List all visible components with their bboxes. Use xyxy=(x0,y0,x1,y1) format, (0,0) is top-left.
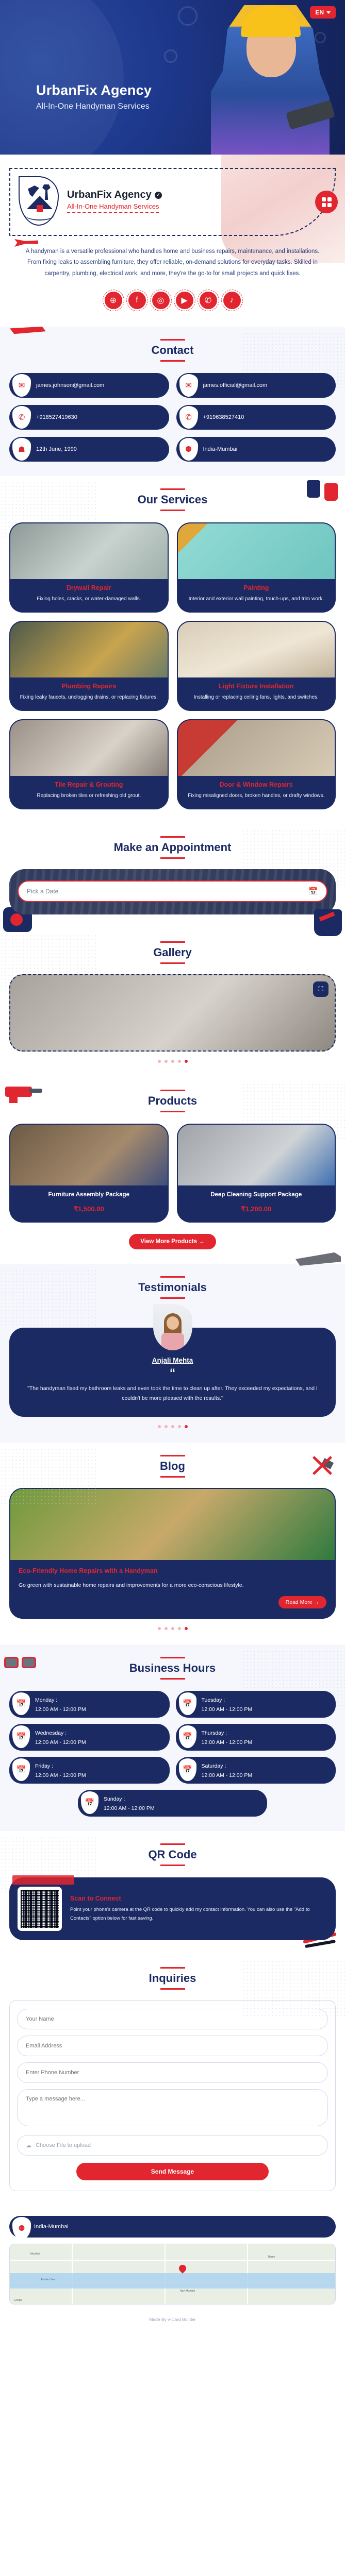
gallery-image[interactable]: ⛶ xyxy=(9,974,336,1052)
message-textarea[interactable] xyxy=(17,2089,328,2126)
location-pin-icon: ⚉ xyxy=(179,438,198,461)
tiktok-icon[interactable]: ♪ xyxy=(223,292,241,309)
title-bar-top xyxy=(160,1090,185,1091)
product-title: Deep Cleaning Support Package xyxy=(182,1191,331,1199)
hours-time: 12:00 AM - 12:00 PM xyxy=(202,1772,253,1778)
service-title: Tile Repair & Grouting xyxy=(15,781,162,788)
hammer-icon xyxy=(28,185,39,197)
date-picker-input[interactable]: Pick a Date 📅 xyxy=(18,880,327,902)
product-card[interactable]: Deep Cleaning Support Package ₹1,200.00 xyxy=(177,1124,336,1223)
hours-time: 12:00 AM - 12:00 PM xyxy=(202,1739,253,1745)
hours-day: Saturday : xyxy=(202,1763,226,1769)
qr-code-image[interactable] xyxy=(18,1887,62,1931)
brand-card: UrbanFix Agency ✓ All-In-One Handyman Se… xyxy=(9,168,336,236)
qr-description: Point your phone's camera at the QR code… xyxy=(70,1906,327,1922)
brand-section: UrbanFix Agency ✓ All-In-One Handyman Se… xyxy=(0,155,345,327)
blog-pager xyxy=(9,1627,336,1630)
gallery-pager xyxy=(9,1060,336,1063)
service-title: Plumbing Repairs xyxy=(15,683,162,690)
service-image xyxy=(10,523,168,579)
pager-dot[interactable] xyxy=(178,1425,181,1428)
about-text-wrap: A handyman is a versatile professional w… xyxy=(9,236,336,281)
page-title-gallery: Gallery xyxy=(9,946,336,959)
pager-dot[interactable] xyxy=(178,1627,181,1630)
social-links: ⊕ f ◎ ▶ ✆ ♪ xyxy=(9,281,336,323)
hours-row-monday: 📅 Monday : 12:00 AM - 12:00 PM xyxy=(9,1691,170,1718)
service-desc: Fixing holes, cracks, or water-damaged w… xyxy=(15,595,162,603)
services-grid: Drywall Repair Fixing holes, cracks, or … xyxy=(9,522,336,809)
product-title: Furniture Assembly Package xyxy=(14,1191,163,1199)
appointment-title-block: Make an Appointment xyxy=(9,836,336,859)
website-glyph: ⊕ xyxy=(110,295,117,306)
qr-code-fab-button[interactable] xyxy=(315,191,338,213)
inquiry-form: ☁ Choose File to upload Send Message xyxy=(9,2000,336,2191)
file-upload-label: Choose File to upload xyxy=(36,2142,91,2148)
page-title-services: Our Services xyxy=(9,493,336,506)
calendar-clock-icon: 📅 xyxy=(12,1725,30,1748)
page-title-appointment: Make an Appointment xyxy=(9,841,336,854)
qr-section: QR Code Scan to Connect Point your phone… xyxy=(0,1831,345,1955)
map-label: Navi Mumbai xyxy=(180,2290,195,2293)
date-placeholder: Pick a Date xyxy=(27,888,58,895)
service-desc: Replacing broken tiles or refreshing old… xyxy=(15,792,162,800)
service-desc: Fixing misaligned doors, broken handles,… xyxy=(183,792,330,800)
file-upload-row[interactable]: ☁ Choose File to upload xyxy=(17,2135,328,2156)
avatar xyxy=(153,1304,192,1350)
service-title: Door & Window Repairs xyxy=(183,781,330,788)
map-section: ⚉ India-Mumbai Mumbai Navi Mumbai Thane … xyxy=(0,2206,345,2310)
blog-section: Blog Eco-Friendly Home Repairs with a Ha… xyxy=(0,1443,345,1645)
map-embed[interactable]: Mumbai Navi Mumbai Thane Arabian Sea Goo… xyxy=(9,2244,336,2304)
appointment-section: Make an Appointment Pick a Date 📅 xyxy=(0,824,345,929)
service-card[interactable]: Tile Repair & Grouting Replacing broken … xyxy=(9,719,169,809)
language-label: EN xyxy=(315,9,324,16)
contact-location[interactable]: ⚉ India-Mumbai xyxy=(176,437,336,462)
pliers-icon xyxy=(14,237,38,248)
contact-email-2[interactable]: ✉ james.official@gmail.com xyxy=(176,373,336,398)
contact-value: james.official@gmail.com xyxy=(203,382,268,388)
logo-arc-decoration xyxy=(25,209,55,221)
calendar-clock-icon: 📅 xyxy=(12,1758,30,1781)
instagram-glyph: ◎ xyxy=(157,295,165,306)
hours-row-friday: 📅 Friday : 12:00 AM - 12:00 PM xyxy=(9,1757,170,1784)
phone-icon: ✆ xyxy=(179,406,198,429)
verified-badge-icon: ✓ xyxy=(155,192,162,199)
pager-dot[interactable] xyxy=(165,1060,168,1063)
wrench-icon xyxy=(42,184,51,200)
hero-text-block: UrbanFix Agency All-In-One Handyman Serv… xyxy=(36,82,152,111)
calendar-clock-icon: 📅 xyxy=(179,1758,196,1781)
youtube-glyph: ▶ xyxy=(181,295,187,306)
pager-dot[interactable] xyxy=(171,1627,174,1630)
blog-title-block: Blog xyxy=(9,1455,336,1478)
hero-subtitle: All-In-One Handyman Services xyxy=(36,102,152,111)
service-desc: Interior and exterior wall painting, tou… xyxy=(183,595,330,603)
pager-dot-active[interactable] xyxy=(185,1425,188,1428)
service-title: Drywall Repair xyxy=(15,584,162,591)
title-bar-bottom xyxy=(160,1111,185,1112)
quote-icon: “ xyxy=(21,1366,324,1380)
service-card[interactable]: Plumbing Repairs Fixing leaky faucets, u… xyxy=(9,621,169,711)
gear-icon xyxy=(315,32,326,43)
pager-dot[interactable] xyxy=(171,1060,174,1063)
business-hours-section: Business Hours 📅 Monday : 12:00 AM - 12:… xyxy=(0,1645,345,1831)
calendar-clock-icon: 📅 xyxy=(12,1692,30,1715)
hours-day: Friday : xyxy=(35,1763,53,1769)
brand-logo xyxy=(19,176,59,226)
map-water-body xyxy=(10,2273,335,2289)
product-price: ₹1,500.00 xyxy=(14,1205,163,1213)
qr-title-block: QR Code xyxy=(9,1843,336,1866)
map-location-chip[interactable]: ⚉ India-Mumbai xyxy=(9,2216,336,2238)
title-bar-top xyxy=(160,836,185,838)
brand-tagline: All-In-One Handyman Services xyxy=(67,202,159,213)
testimonials-pager xyxy=(9,1425,336,1428)
title-bar-top xyxy=(160,339,185,341)
calendar-clock-icon: 📅 xyxy=(179,1692,196,1715)
map-label: Mumbai xyxy=(30,2252,40,2256)
product-image xyxy=(178,1125,335,1185)
location-pin-icon: ⚉ xyxy=(12,2217,31,2240)
blog-post-title: Eco-Friendly Home Repairs with a Handyma… xyxy=(19,1567,326,1574)
facebook-glyph: f xyxy=(136,296,138,305)
gear-icon xyxy=(178,6,198,26)
product-card[interactable]: Furniture Assembly Package ₹1,500.00 xyxy=(9,1124,169,1223)
title-bar-top xyxy=(160,1455,185,1456)
upload-cloud-icon: ☁ xyxy=(26,2142,31,2149)
page-title-blog: Blog xyxy=(9,1460,336,1473)
service-title: Painting xyxy=(183,584,330,591)
pager-dot[interactable] xyxy=(158,1425,161,1428)
title-bar-bottom xyxy=(160,857,185,859)
map-label: Thane xyxy=(268,2256,275,2259)
hours-title-block: Business Hours xyxy=(9,1657,336,1680)
page-title-business-hours: Business Hours xyxy=(9,1662,336,1675)
pager-dot[interactable] xyxy=(171,1425,174,1428)
birthday-cake-icon: ☗ xyxy=(12,438,31,461)
appointment-card: Pick a Date 📅 xyxy=(9,869,336,914)
pager-dot[interactable] xyxy=(158,1627,161,1630)
page-title-contact: Contact xyxy=(9,344,336,357)
whatsapp-icon[interactable]: ✆ xyxy=(200,292,217,309)
hours-row-sunday: 📅 Sunday : 12:00 AM - 12:00 PM xyxy=(78,1790,267,1817)
pager-dot[interactable] xyxy=(165,1425,168,1428)
testimonial-text: "The handyman fixed my bathroom leaks an… xyxy=(21,1384,324,1403)
title-bar-top xyxy=(160,488,185,490)
contact-birthday[interactable]: ☗ 12th June, 1990 xyxy=(9,437,169,462)
blog-post-desc: Go green with sustainable home repairs a… xyxy=(19,1581,326,1590)
gear-icon xyxy=(164,49,177,63)
hours-grid: 📅 Monday : 12:00 AM - 12:00 PM 📅 Tuesday… xyxy=(9,1691,336,1817)
page-title-testimonials: Testimonials xyxy=(9,1281,336,1294)
service-card[interactable]: Light Fixture Installation Installing or… xyxy=(177,621,336,711)
hero-blob-decoration xyxy=(0,0,124,155)
service-desc: Fixing leaky faucets, unclogging drains,… xyxy=(15,693,162,702)
inquiries-section: Inquiries ☁ Choose File to upload Send M… xyxy=(0,1955,345,2206)
service-card[interactable]: Drywall Repair Fixing holes, cracks, or … xyxy=(9,522,169,613)
about-text: A handyman is a versatile professional w… xyxy=(26,248,320,277)
title-bar-bottom xyxy=(160,1678,185,1680)
pager-dot-active[interactable] xyxy=(185,1060,188,1063)
phone-input[interactable] xyxy=(17,2062,328,2083)
page-title-products: Products xyxy=(9,1094,336,1108)
fullscreen-icon[interactable]: ⛶ xyxy=(313,981,328,997)
send-message-button[interactable]: Send Message xyxy=(76,2163,269,2180)
view-more-products-button[interactable]: View More Products → xyxy=(129,1234,216,1249)
hours-time: 12:00 AM - 12:00 PM xyxy=(35,1706,86,1713)
contact-email-1[interactable]: ✉ james.johnson@gmail.com xyxy=(9,373,169,398)
service-desc: Installing or replacing ceiling fans, li… xyxy=(183,693,330,702)
map-label: Arabian Sea xyxy=(41,2278,55,2281)
hours-day: Wednesday : xyxy=(35,1730,67,1736)
pager-dot[interactable] xyxy=(178,1060,181,1063)
product-price: ₹1,200.00 xyxy=(182,1205,331,1213)
product-image xyxy=(10,1125,168,1185)
instagram-icon[interactable]: ◎ xyxy=(152,292,170,309)
hero-banner: EN UrbanFix Agency All-In-One Handyman S… xyxy=(0,0,345,155)
calendar-icon: 📅 xyxy=(308,887,318,896)
brand-name-row: UrbanFix Agency ✓ xyxy=(67,189,162,201)
service-image xyxy=(178,622,335,677)
hours-day: Tuesday : xyxy=(202,1697,225,1703)
title-bar-top xyxy=(160,1843,185,1845)
email-input[interactable] xyxy=(17,2036,328,2056)
youtube-icon[interactable]: ▶ xyxy=(176,292,193,309)
hours-day: Sunday : xyxy=(104,1796,125,1802)
blog-card[interactable]: Eco-Friendly Home Repairs with a Handyma… xyxy=(9,1488,336,1619)
title-bar-top xyxy=(160,1276,185,1278)
service-card[interactable]: Door & Window Repairs Fixing misaligned … xyxy=(177,719,336,809)
service-card[interactable]: Painting Interior and exterior wall pain… xyxy=(177,522,336,613)
title-bar-bottom xyxy=(160,1476,185,1478)
hours-row-thursday: 📅 Thursday : 12:00 AM - 12:00 PM xyxy=(176,1724,336,1751)
title-bar-top xyxy=(160,1967,185,1969)
hours-row-tuesday: 📅 Tuesday : 12:00 AM - 12:00 PM xyxy=(176,1691,336,1718)
contact-value: +918527419630 xyxy=(36,414,77,420)
hours-time: 12:00 AM - 12:00 PM xyxy=(35,1739,86,1745)
hero-title: UrbanFix Agency xyxy=(36,82,152,98)
map-location-label: India-Mumbai xyxy=(34,2224,69,2230)
testimonials-section: Testimonials Anjali Mehta “ "The handyma… xyxy=(0,1264,345,1443)
products-grid: Furniture Assembly Package ₹1,500.00 Dee… xyxy=(9,1124,336,1223)
email-icon: ✉ xyxy=(12,374,31,397)
contact-title-block: Contact xyxy=(9,339,336,362)
qr-heading: Scan to Connect xyxy=(70,1895,327,1902)
services-section: Our Services Drywall Repair Fixing holes… xyxy=(0,476,345,824)
contact-value: james.johnson@gmail.com xyxy=(36,382,104,388)
hours-row-wednesday: 📅 Wednesday : 12:00 AM - 12:00 PM xyxy=(9,1724,170,1751)
title-bar-bottom xyxy=(160,1988,185,1990)
map-attribution: Google xyxy=(14,2299,22,2302)
email-icon: ✉ xyxy=(179,374,198,397)
title-bar-bottom xyxy=(160,1865,185,1866)
inquiries-title-block: Inquiries xyxy=(9,1967,336,1990)
page-title-qr: QR Code xyxy=(9,1848,336,1861)
contact-phone-1[interactable]: ✆ +918527419630 xyxy=(9,405,169,430)
phone-icon: ✆ xyxy=(12,406,31,429)
calendar-clock-icon: 📅 xyxy=(179,1725,196,1748)
qr-grid-icon xyxy=(322,197,332,207)
services-title-block: Our Services xyxy=(9,488,336,511)
hours-day: Thursday : xyxy=(202,1730,227,1736)
title-bar-bottom xyxy=(160,1297,185,1299)
footer-credit: Made By v-Card Builder xyxy=(0,2310,345,2331)
title-bar-top xyxy=(160,941,185,943)
service-image xyxy=(10,622,168,677)
service-image xyxy=(178,720,335,776)
products-title-block: Products xyxy=(9,1090,336,1112)
contact-value: 12th June, 1990 xyxy=(36,446,77,452)
page-title-inquiries: Inquiries xyxy=(9,1972,336,1985)
brand-name: UrbanFix Agency xyxy=(67,189,152,201)
gallery-section: Gallery ⛶ xyxy=(0,929,345,1077)
hours-row-saturday: 📅 Saturday : 12:00 AM - 12:00 PM xyxy=(176,1757,336,1784)
testimonials-title-block: Testimonials xyxy=(9,1276,336,1299)
gallery-title-block: Gallery xyxy=(9,941,336,964)
testimonial-card-wrap: Anjali Mehta “ "The handyman fixed my ba… xyxy=(9,1328,336,1417)
pager-dot[interactable] xyxy=(158,1060,161,1063)
hours-day: Monday : xyxy=(35,1697,57,1703)
vcard-page: EN UrbanFix Agency All-In-One Handyman S… xyxy=(0,0,345,2331)
facebook-icon[interactable]: f xyxy=(128,292,146,309)
products-section: Products Furniture Assembly Package ₹1,5… xyxy=(0,1077,345,1264)
contact-phone-2[interactable]: ✆ +919638527410 xyxy=(176,405,336,430)
hours-time: 12:00 AM - 12:00 PM xyxy=(35,1772,86,1778)
calendar-clock-icon: 📅 xyxy=(81,1791,98,1814)
chevron-down-icon xyxy=(326,11,331,14)
contact-section: Contact ✉ james.johnson@gmail.com ✉ jame… xyxy=(0,327,345,476)
title-bar-bottom xyxy=(160,510,185,511)
ruler-icon xyxy=(12,1875,74,1885)
testimonial-author: Anjali Mehta xyxy=(21,1357,324,1364)
read-more-button[interactable]: Read More → xyxy=(278,1596,326,1608)
website-icon[interactable]: ⊕ xyxy=(105,292,122,309)
pager-dot-active[interactable] xyxy=(185,1627,188,1630)
whatsapp-glyph: ✆ xyxy=(205,295,211,306)
contact-value: +919638527410 xyxy=(203,414,244,420)
service-image xyxy=(10,720,168,776)
hours-time: 12:00 AM - 12:00 PM xyxy=(104,1805,155,1811)
title-bar-bottom xyxy=(160,962,185,964)
tiktok-glyph: ♪ xyxy=(230,296,234,305)
contact-list: ✉ james.johnson@gmail.com ✉ james.offici… xyxy=(9,373,336,462)
qr-card: Scan to Connect Point your phone's camer… xyxy=(9,1877,336,1940)
pager-dot[interactable] xyxy=(165,1627,168,1630)
service-image xyxy=(178,523,335,579)
title-bar-top xyxy=(160,1657,185,1658)
language-selector[interactable]: EN xyxy=(310,6,336,19)
title-bar-bottom xyxy=(160,360,185,362)
service-title: Light Fixture Installation xyxy=(183,683,330,690)
contact-value: India-Mumbai xyxy=(203,446,238,452)
hours-time: 12:00 AM - 12:00 PM xyxy=(202,1706,253,1713)
